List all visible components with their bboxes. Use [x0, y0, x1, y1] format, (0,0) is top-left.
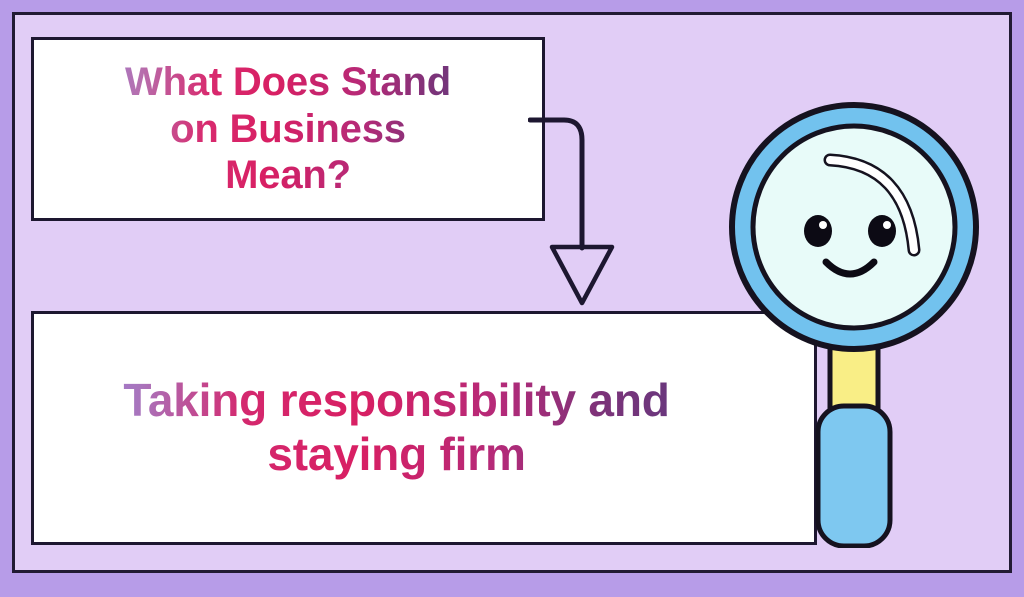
- answer-card: Taking responsibility and staying firm: [31, 311, 817, 545]
- answer-line-2: staying firm: [77, 428, 717, 482]
- left-eye-highlight-icon: [819, 221, 827, 229]
- question-card-text: What Does Stand on Business Mean?: [88, 59, 488, 199]
- infographic-canvas: What Does Stand on Business Mean? Taking…: [0, 0, 1024, 597]
- right-eye-icon: [868, 215, 896, 247]
- magnifier-handle: [818, 406, 890, 546]
- question-line-3: Mean?: [88, 152, 488, 199]
- magnifying-glass-icon: [718, 98, 1008, 548]
- left-eye-icon: [804, 215, 832, 247]
- question-card: What Does Stand on Business Mean?: [31, 37, 545, 221]
- magnifier-lens: [753, 126, 955, 328]
- question-line-1: What Does Stand: [88, 59, 488, 106]
- answer-line-1: Taking responsibility and: [77, 374, 717, 428]
- answer-card-text: Taking responsibility and staying firm: [77, 374, 717, 482]
- question-line-2: on Business: [88, 106, 488, 153]
- right-eye-highlight-icon: [883, 221, 891, 229]
